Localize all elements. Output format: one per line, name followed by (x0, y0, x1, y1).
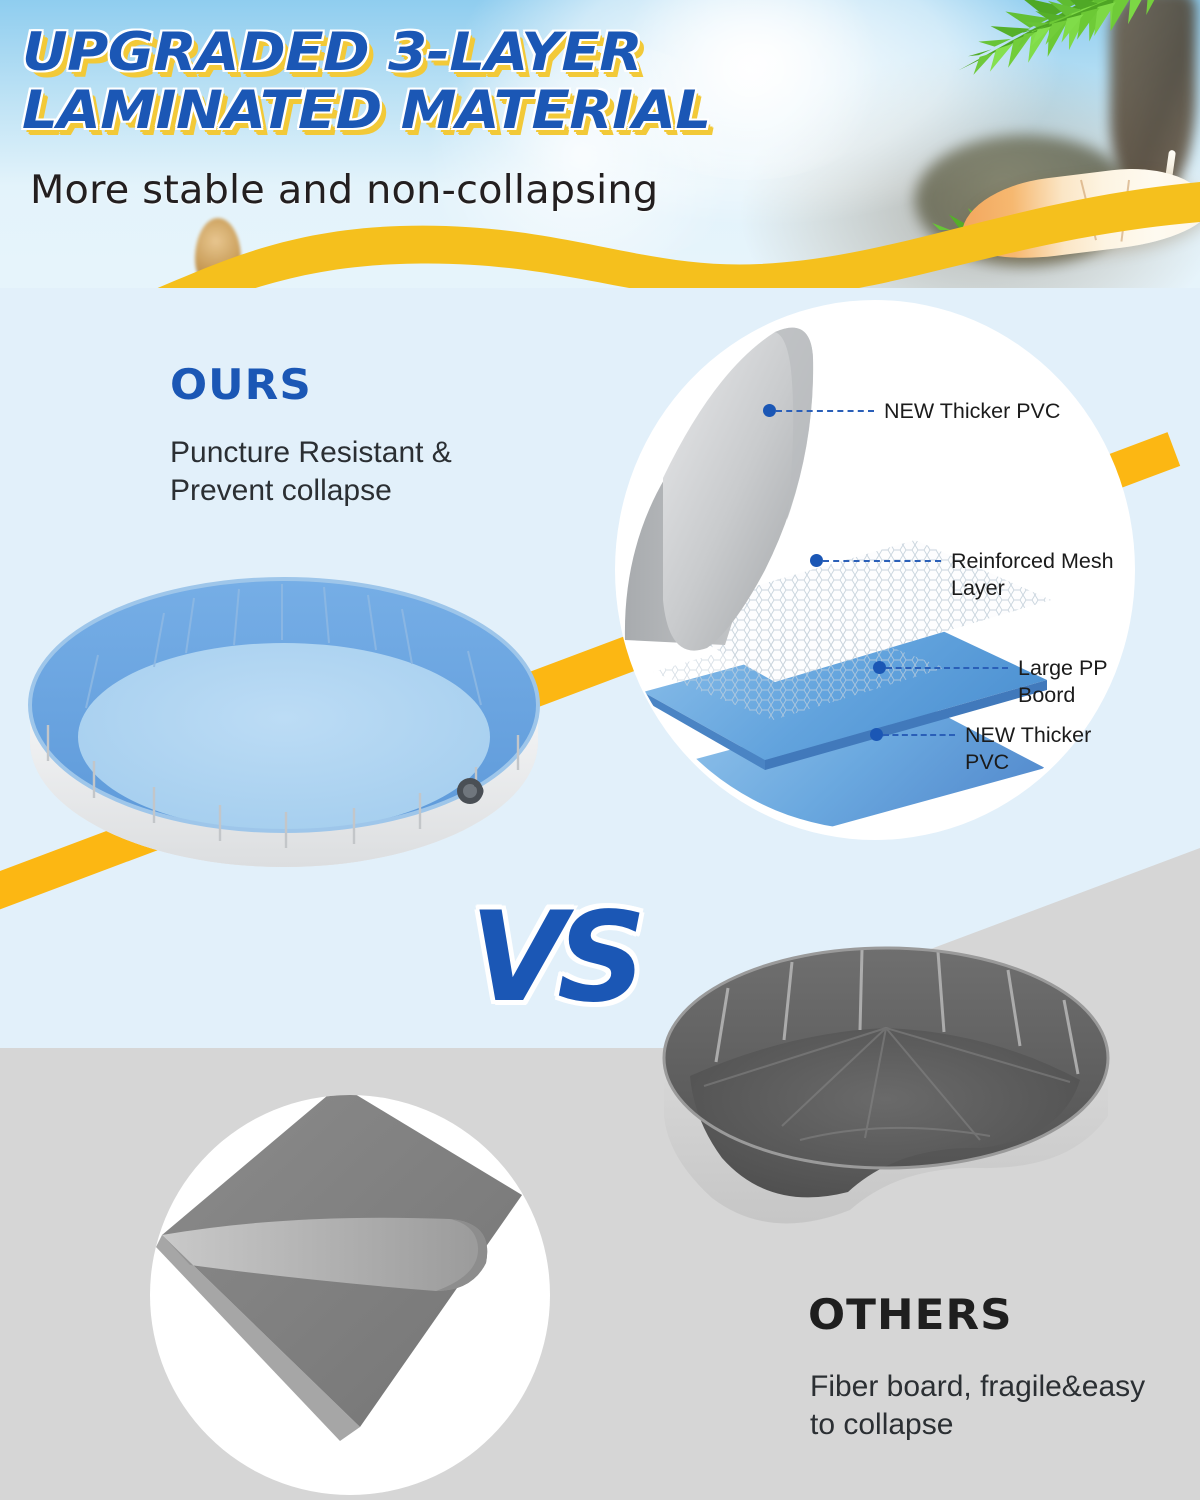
callout-label: Large PP Boord (1018, 655, 1108, 709)
callout-label: NEW Thicker PVC (884, 398, 1060, 425)
vs-badge: VS (470, 888, 680, 1028)
callout-leader-line (883, 734, 955, 736)
callout-dot-icon (810, 554, 823, 567)
callout-dot-icon (873, 661, 886, 674)
callout-label: NEW Thicker PVC (965, 722, 1091, 776)
page-headline: UPGRADED 3-LAYER LAMINATED MATERIAL (22, 24, 955, 140)
infographic-canvas: UPGRADED 3-LAYER LAMINATED MATERIAL More… (0, 0, 1200, 1500)
callout-large-pp-board: Large PP Boord (873, 655, 1108, 709)
callout-reinforced-mesh-layer: Reinforced Mesh Layer (810, 548, 1114, 602)
callout-leader-line (776, 410, 874, 412)
ours-description: Puncture Resistant & Prevent collapse (170, 434, 530, 510)
headline-line-2: LAMINATED MATERIAL (22, 82, 955, 140)
callout-dot-icon (870, 728, 883, 741)
others-description: Fiber board, fragile&easy to collapse (810, 1368, 1150, 1444)
ours-title: OURS (170, 360, 312, 409)
others-material-circle (150, 1095, 550, 1495)
headline-line-1: UPGRADED 3-LAYER (22, 24, 955, 82)
others-peeling-sheet-illustration (150, 1095, 550, 1495)
callout-new-thicker-pvc-top: NEW Thicker PVC (763, 398, 1060, 425)
callout-dot-icon (763, 404, 776, 417)
others-pool-image (650, 940, 1120, 1240)
ours-pool-image (24, 565, 544, 895)
others-title: OTHERS (808, 1290, 1013, 1339)
callout-new-thicker-pvc-bottom: NEW Thicker PVC (870, 722, 1091, 776)
callout-leader-line (823, 560, 941, 562)
callout-label: Reinforced Mesh Layer (951, 548, 1114, 602)
callout-leader-line (886, 667, 1008, 669)
